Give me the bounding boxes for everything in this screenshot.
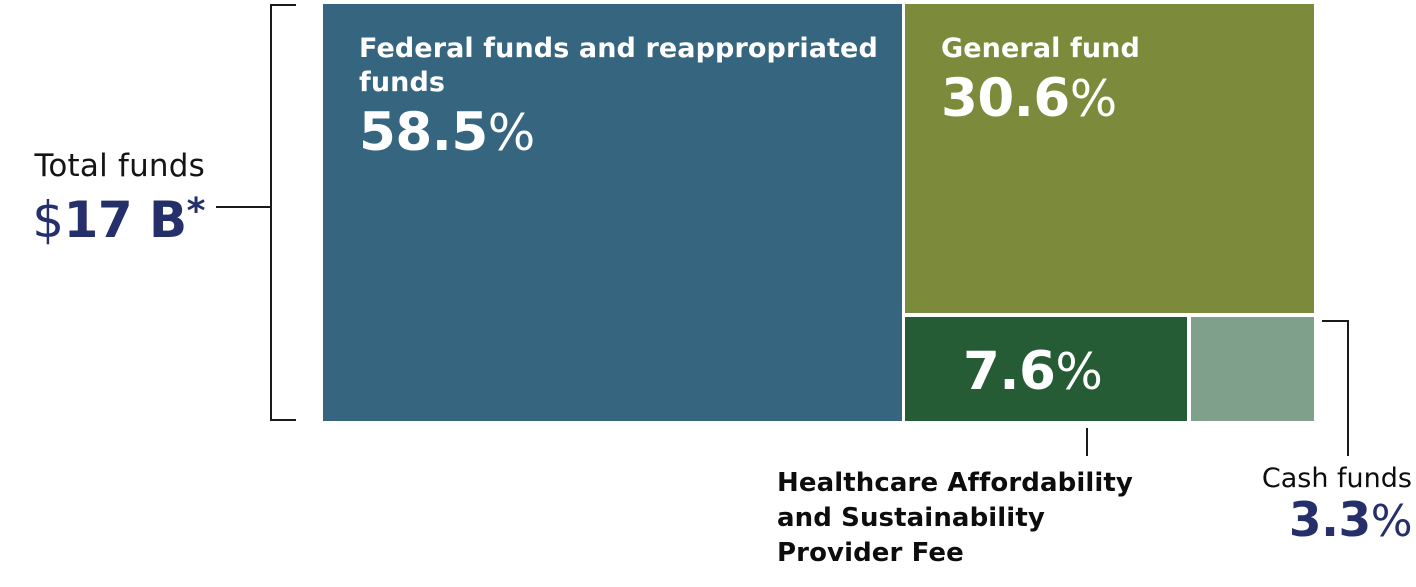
block-general-percent-value: 30.6 <box>941 68 1070 129</box>
block-federal-percent: 58.5% <box>359 102 892 164</box>
hasp-caption: Healthcare Affordability and Sustainabil… <box>777 466 1177 571</box>
cash-funds-bracket <box>1322 320 1349 456</box>
block-federal-title: Federal funds and reappropriated funds <box>359 32 892 100</box>
percent-symbol: % <box>1055 343 1102 401</box>
block-general-title: General fund <box>941 32 1304 66</box>
block-hasp-percent: 7.6% <box>963 341 1177 403</box>
percent-symbol: % <box>488 104 535 162</box>
block-hasp-content: 7.6% <box>963 339 1177 403</box>
block-general-content: General fund 30.6% <box>941 32 1304 130</box>
cash-funds-percent: 3.3% <box>1190 495 1412 548</box>
currency-symbol: $ <box>32 191 63 249</box>
block-hasp-percent-value: 7.6 <box>963 341 1055 402</box>
footnote-marker: * <box>187 191 205 232</box>
total-funds-label: Total funds <box>0 148 205 184</box>
block-general-percent: 30.6% <box>941 68 1304 130</box>
total-funds-callout: Total funds $17 B* <box>0 148 205 246</box>
cash-funds-caption-title: Cash funds <box>1190 463 1412 495</box>
block-federal-content: Federal funds and reappropriated funds 5… <box>359 32 892 164</box>
block-federal-funds[interactable]: Federal funds and reappropriated funds 5… <box>323 4 902 421</box>
block-hasp-fee[interactable]: 7.6% <box>905 317 1187 421</box>
cash-funds-percent-value: 3.3 <box>1289 493 1371 548</box>
funding-mosaic-chart: Total funds $17 B* Federal funds and rea… <box>0 0 1416 587</box>
block-general-fund[interactable]: General fund 30.6% <box>905 4 1314 313</box>
hasp-leader-line <box>1086 428 1088 456</box>
block-cash-funds[interactable] <box>1191 317 1314 421</box>
cash-funds-caption: Cash funds 3.3% <box>1190 463 1416 548</box>
total-funds-value: $17 B* <box>0 186 205 246</box>
total-bracket <box>270 4 296 421</box>
total-funds-amount: 17 B <box>64 191 187 249</box>
percent-symbol: % <box>1070 70 1117 128</box>
total-bracket-stub <box>216 206 272 208</box>
percent-symbol: % <box>1371 496 1412 547</box>
block-federal-percent-value: 58.5 <box>359 102 488 163</box>
